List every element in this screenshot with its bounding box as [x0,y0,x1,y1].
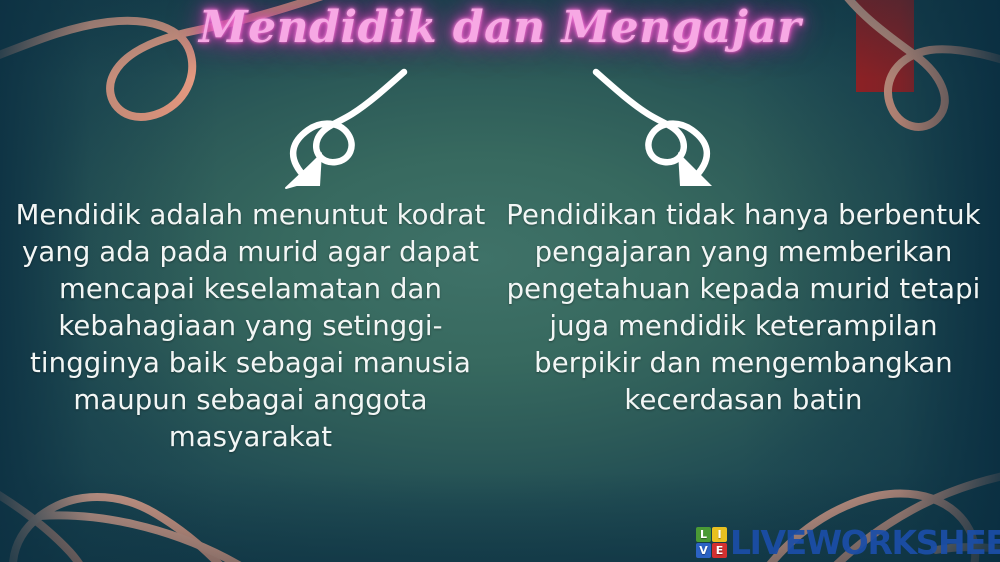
page-title: Mendidik dan Mengajar [0,2,1000,53]
watermark-brand-text: LIVEWORKSHEETS [730,526,1000,559]
curly-arrow-down-left-icon [286,72,404,188]
curly-arrow-down-right-icon [596,72,712,186]
logo-tile-v: V [696,543,711,558]
swirl-line-bottom-left [0,478,370,562]
liveworksheets-logo-icon: L I V E [696,527,727,558]
logo-tile-i: I [712,527,727,542]
left-text-block: Mendidik adalah menuntut kodrat yang ada… [8,197,493,456]
logo-tile-l: L [696,527,711,542]
slide-canvas: Mendidik dan Mengajar Mendidik adalah me… [0,0,1000,562]
liveworksheets-watermark: L I V E LIVEWORKSHEETS [696,524,1000,560]
right-text-block: Pendidikan tidak hanya berbentuk pengaja… [500,197,987,419]
logo-tile-e: E [712,543,727,558]
